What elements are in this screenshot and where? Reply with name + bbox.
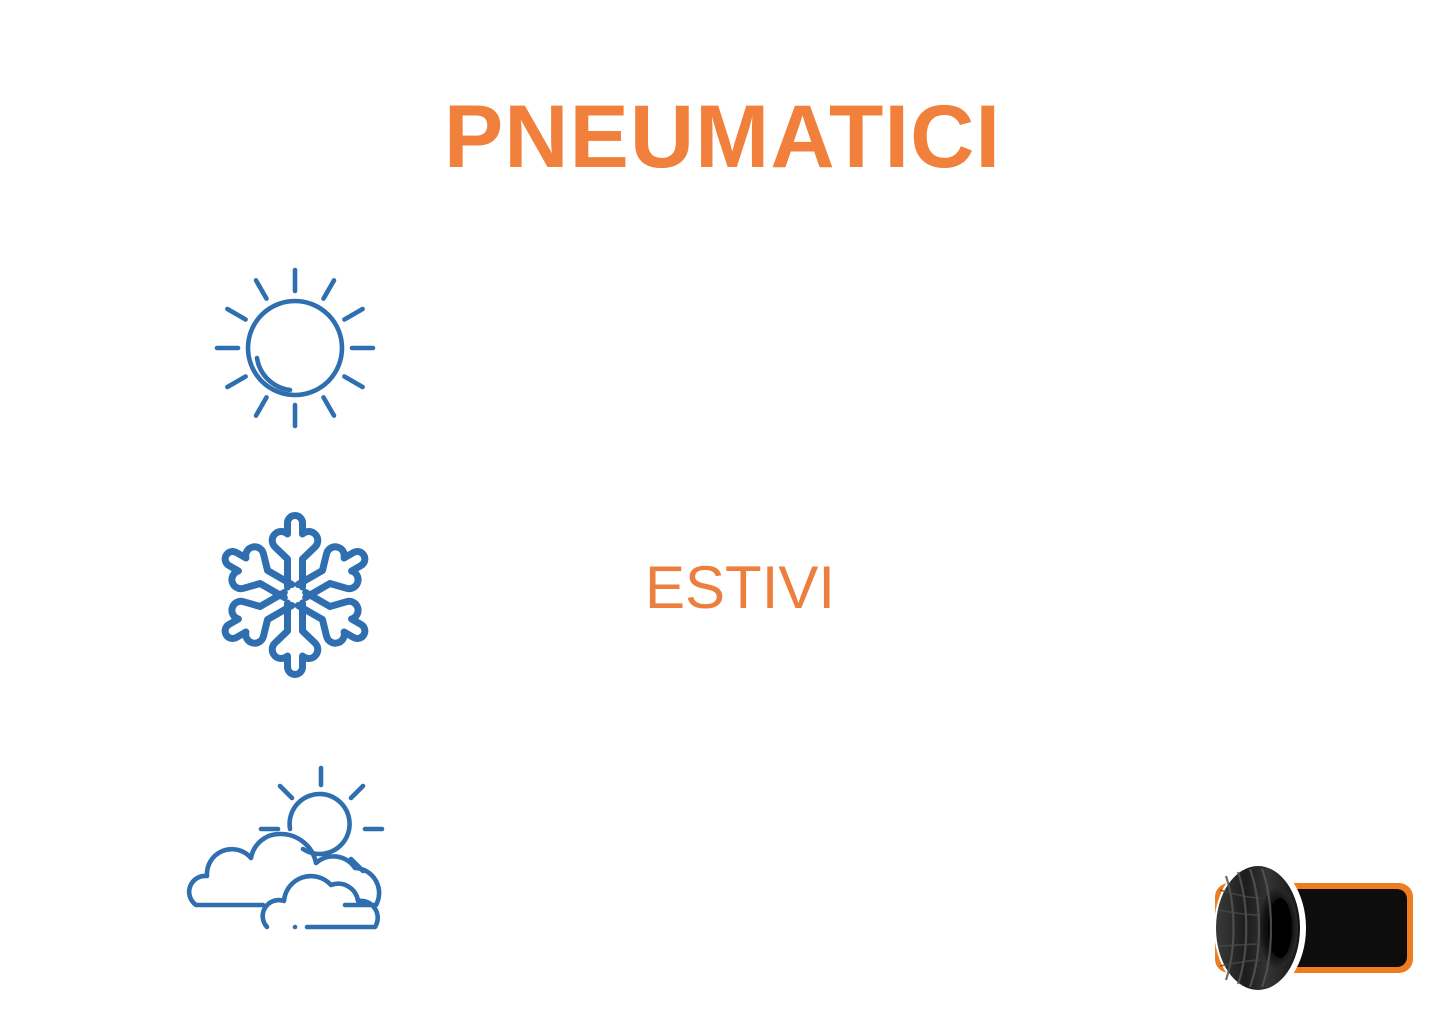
page-title: PNEUMATICI bbox=[0, 92, 1445, 181]
sun-icon bbox=[185, 250, 415, 450]
tyre-category-row-invernali: INVERNALI bbox=[0, 495, 1445, 695]
sun-behind-clouds-icon bbox=[185, 745, 415, 945]
regomma-logo: REGOMMA bbox=[1196, 856, 1424, 1006]
snowflake-icon bbox=[185, 495, 415, 695]
poster-canvas: PNEUMATICI bbox=[0, 0, 1445, 1022]
tyre-category-row-estivi: ESTIVI bbox=[0, 250, 1445, 450]
